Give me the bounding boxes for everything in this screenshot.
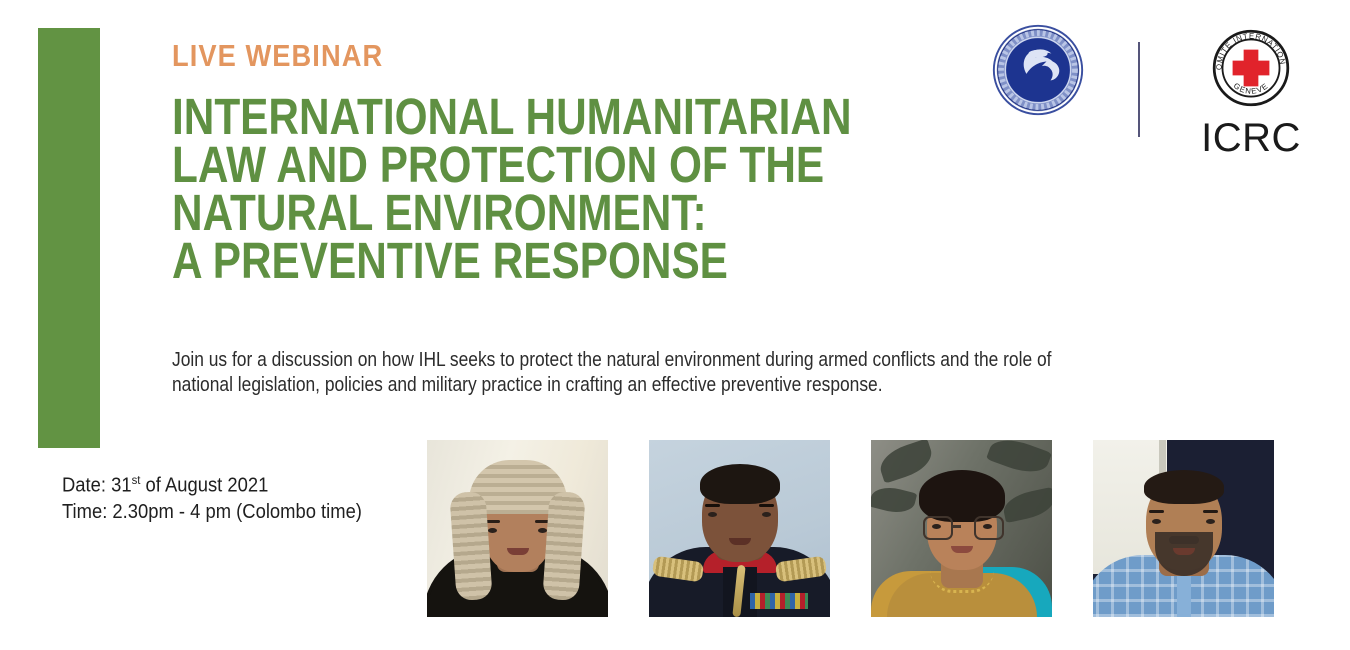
headline-block: LIVE WEBINAR INTERNATIONAL HUMANITARIAN …	[172, 40, 1072, 285]
icrc-emblem-icon: COMITE INTERNATIONAL GENEVE	[1205, 22, 1297, 114]
date-ordinal: st	[132, 473, 141, 487]
blurb-wrapper: Join us for a discussion on how IHL seek…	[172, 348, 1207, 398]
logo-divider	[1138, 42, 1140, 137]
speaker-photo-row	[427, 440, 1274, 617]
speaker-photo-4	[1093, 440, 1274, 617]
speaker-photo-3	[871, 440, 1052, 617]
speaker-photo-1	[427, 440, 608, 617]
icrc-logo: COMITE INTERNATIONAL GENEVE ICRC	[1192, 22, 1310, 158]
date-line: Date: 31st of August 2021	[62, 467, 362, 499]
page-title: INTERNATIONAL HUMANITARIAN LAW AND PROTE…	[172, 93, 919, 285]
webinar-poster: COMITE INTERNATIONAL GENEVE ICRC LIVE WE…	[0, 0, 1350, 650]
description-text: Join us for a discussion on how IHL seek…	[172, 348, 1072, 398]
date-label: Date:	[62, 475, 106, 497]
kicker-label: LIVE WEBINAR	[172, 40, 964, 71]
date-rest: of August 2021	[140, 475, 268, 497]
speaker-photo-2	[649, 440, 830, 617]
icrc-wordmark: ICRC	[1201, 118, 1301, 158]
datetime-block: Date: 31st of August 2021 Time: 2.30pm -…	[62, 467, 362, 525]
date-day: 31	[111, 475, 131, 497]
green-accent-bar	[38, 28, 100, 448]
time-line: Time: 2.30pm - 4 pm (Colombo time)	[62, 499, 362, 525]
